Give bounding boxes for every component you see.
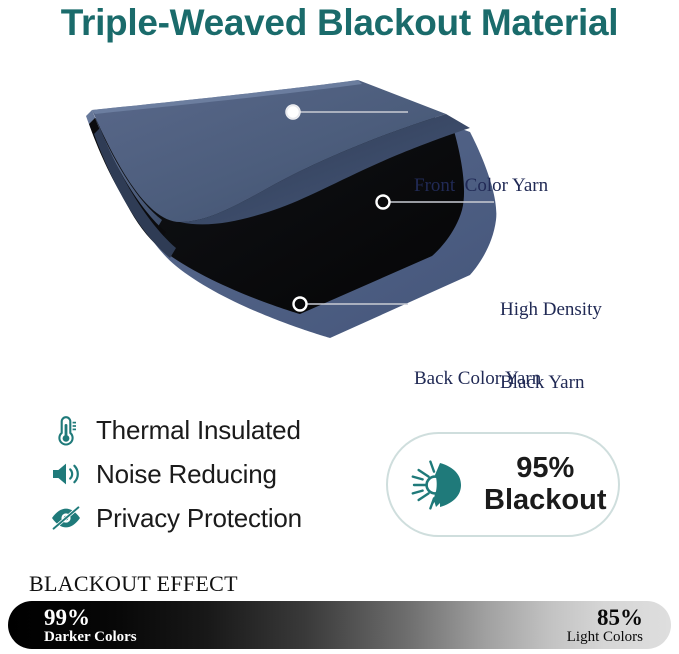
page-title: Triple-Weaved Blackout Material [0,2,679,44]
darker-colors-caption: Darker Colors [44,630,137,646]
light-colors-percent: 85% [567,606,643,630]
blackout-word: Blackout [484,485,606,516]
feature-label: Noise Reducing [96,459,277,490]
feature-privacy-protection: Privacy Protection [44,496,374,540]
thermometer-icon [44,410,88,450]
fabric-layers-diagram: Front Color Yarn High Density Black Yarn… [0,70,679,370]
light-colors-caption: Light Colors [567,630,643,646]
eye-slash-icon [44,498,88,538]
feature-label: Privacy Protection [96,503,302,534]
feature-label: Thermal Insulated [96,415,301,446]
blackout-badge: 95% Blackout [386,432,620,537]
callout-label-black: High Density Black Yarn [500,249,602,444]
feature-thermal-insulated: Thermal Insulated [44,408,374,452]
sun-behind-curtain-icon [404,451,472,519]
darker-colors-percent: 99% [44,606,137,630]
blackout-effect-heading: BLACKOUT EFFECT [29,571,238,597]
callout-label-back: Back Color Yarn [414,367,541,391]
speaker-sound-icon [44,454,88,494]
blackout-badge-text: 95% Blackout [484,453,606,516]
feature-list: Thermal Insulated Noise Reducing Privacy… [44,408,374,540]
callout-label-front: Front Color Yarn [414,174,548,198]
blackout-effect-right-stat: 85% Light Colors [567,606,643,646]
blackout-effect-left-stat: 99% Darker Colors [44,606,137,646]
blackout-percent: 95% [484,453,606,484]
feature-noise-reducing: Noise Reducing [44,452,374,496]
callout-label-black-line1: High Density [500,298,602,322]
